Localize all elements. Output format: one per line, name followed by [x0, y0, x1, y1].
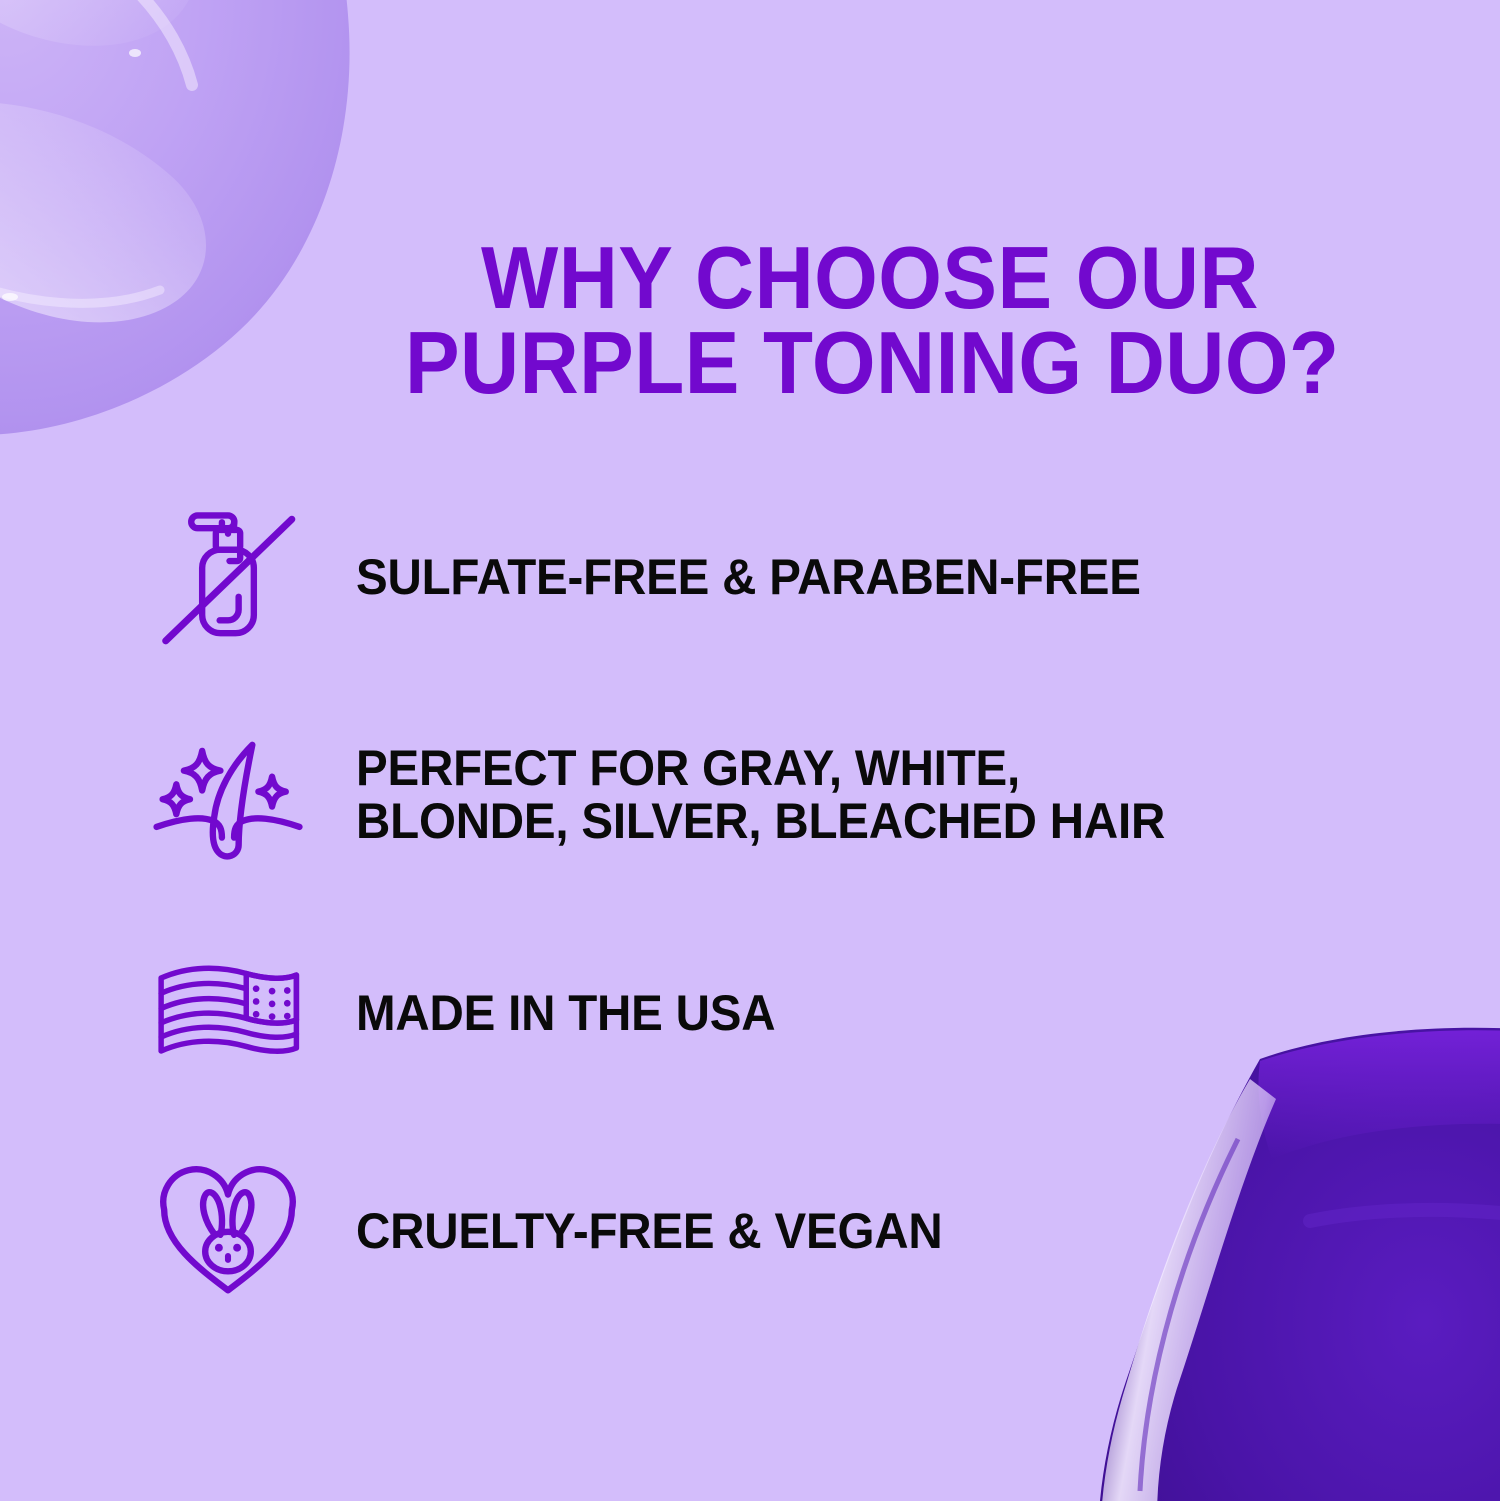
- page-title: WHY CHOOSE OUR PURPLE TONING DUO?: [405, 235, 1335, 406]
- promo-graphic: WHY CHOOSE OUR PURPLE TONING DUO? SULFAT: [0, 0, 1500, 1501]
- feature-label-sulfate-free: SULFATE-FREE & PARABEN-FREE: [356, 551, 1340, 604]
- feature-label-line-1: SULFATE-FREE & PARABEN-FREE: [356, 551, 1340, 604]
- feature-item-made-in-usa: MADE IN THE USA: [152, 928, 1392, 1098]
- feature-label-hair-types: PERFECT FOR GRAY, WHITE, BLONDE, SILVER,…: [356, 742, 1340, 848]
- bunny-heart-icon: [152, 1155, 304, 1307]
- usa-flag-icon: [152, 937, 304, 1089]
- feature-label-line-1: CRUELTY-FREE & VEGAN: [356, 1205, 1340, 1258]
- feature-label-line-1: MADE IN THE USA: [356, 987, 1340, 1040]
- feature-label-cruelty-free: CRUELTY-FREE & VEGAN: [356, 1205, 1340, 1258]
- feature-list: SULFATE-FREE & PARABEN-FREE PERFECT FOR …: [152, 492, 1392, 1316]
- feature-label-line-1: PERFECT FOR GRAY, WHITE,: [356, 742, 1340, 795]
- feature-label-line-2: BLONDE, SILVER, BLEACHED HAIR: [356, 795, 1340, 848]
- page-title-line-2: PURPLE TONING DUO?: [405, 320, 1335, 405]
- feature-item-sulfate-free: SULFATE-FREE & PARABEN-FREE: [152, 492, 1392, 662]
- shiny-hair-follicle-icon: [152, 719, 304, 871]
- feature-item-hair-types: PERFECT FOR GRAY, WHITE, BLONDE, SILVER,…: [152, 710, 1392, 880]
- no-pump-bottle-icon: [152, 501, 304, 653]
- cream-conditioner-blob: [0, 0, 380, 445]
- feature-label-made-in-usa: MADE IN THE USA: [356, 987, 1340, 1040]
- page-title-line-1: WHY CHOOSE OUR: [405, 235, 1335, 320]
- feature-item-cruelty-free: CRUELTY-FREE & VEGAN: [152, 1146, 1392, 1316]
